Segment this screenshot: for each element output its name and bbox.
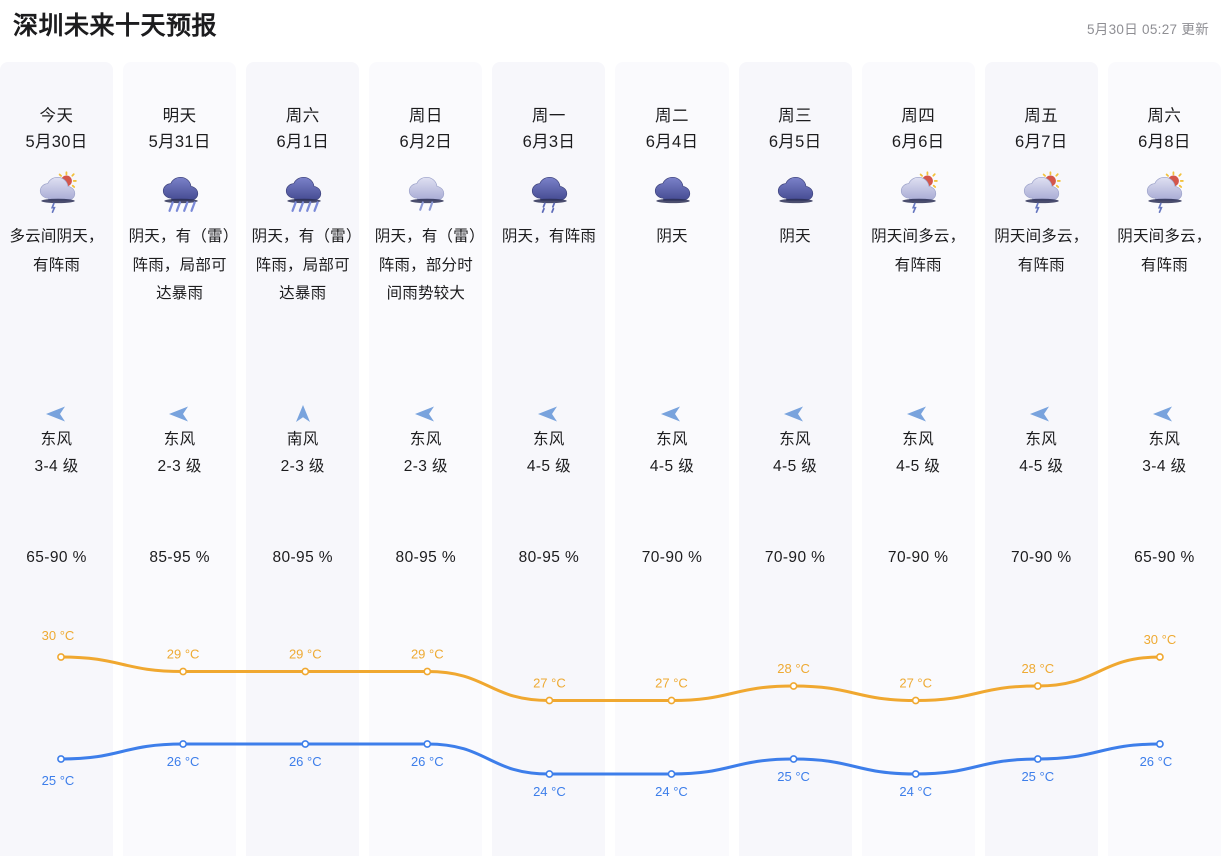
wind-block: 南风2-3 级 <box>246 402 359 480</box>
wind-level: 4-5 级 <box>896 453 940 480</box>
weather-description: 阴天，有阵雨 <box>497 223 601 252</box>
page-header: 深圳未来十天预报 5月30日 05:27 更新 <box>0 0 1221 62</box>
wind-direction: 东风 <box>1025 426 1057 453</box>
weather-description: 阴天间多云，有阵雨 <box>866 223 970 280</box>
forecast-day-column[interactable]: 周日6月2日阴天，有（雷）阵雨，部分时间雨势较大东风2-3 级80-95 % <box>369 62 482 856</box>
day-date: 5月31日 <box>149 130 211 156</box>
wind-level: 3-4 级 <box>34 453 78 480</box>
wind-block: 东风4-5 级 <box>492 402 605 480</box>
day-name: 周五 <box>1024 104 1058 130</box>
forecast-day-column[interactable]: 明天5月31日阴天，有（雷）阵雨，局部可达暴雨东风2-3 级85-95 % <box>123 62 236 856</box>
day-name: 周一 <box>532 104 566 130</box>
dark-cloud-heavy-rain-icon <box>273 171 333 215</box>
weather-description: 阴天，有（雷）阵雨，局部可达暴雨 <box>251 223 355 309</box>
day-name: 周六 <box>1147 104 1181 130</box>
day-name: 周三 <box>778 104 812 130</box>
wind-arrow-east-icon <box>657 402 687 426</box>
humidity-range: 65-90 % <box>1108 549 1221 567</box>
wind-level: 3-4 级 <box>1142 453 1186 480</box>
wind-arrow-east-icon <box>165 402 195 426</box>
day-date: 5月30日 <box>26 130 88 156</box>
day-date: 6月3日 <box>523 130 576 156</box>
wind-level: 2-3 级 <box>158 453 202 480</box>
weather-description: 多云间阴天，有阵雨 <box>5 223 109 280</box>
day-date: 6月8日 <box>1138 130 1191 156</box>
dark-cloud-heavy-rain-icon <box>150 171 210 215</box>
day-name: 今天 <box>40 104 74 130</box>
update-timestamp: 5月30日 05:27 更新 <box>1087 18 1209 38</box>
humidity-range: 70-90 % <box>739 549 852 567</box>
wind-level: 4-5 级 <box>527 453 571 480</box>
weather-description: 阴天间多云，有阵雨 <box>989 223 1093 280</box>
day-name: 周四 <box>901 104 935 130</box>
wind-arrow-east-icon <box>903 402 933 426</box>
wind-direction: 东风 <box>41 426 73 453</box>
wind-level: 2-3 级 <box>281 453 325 480</box>
wind-arrow-east-glyph <box>905 404 931 424</box>
weather-description: 阴天，有（雷）阵雨，局部可达暴雨 <box>128 223 232 309</box>
weather-description: 阴天 <box>620 223 724 252</box>
wind-direction: 东风 <box>902 426 934 453</box>
humidity-range: 65-90 % <box>0 549 113 567</box>
wind-direction: 东风 <box>410 426 442 453</box>
wind-arrow-east-glyph <box>659 404 685 424</box>
wind-level: 2-3 级 <box>404 453 448 480</box>
wind-level: 4-5 级 <box>650 453 694 480</box>
forecast-day-strip: 今天5月30日多云间阴天，有阵雨东风3-4 级65-90 %明天5月31日阴天，… <box>0 62 1221 856</box>
sun-cloud-rain-icon <box>1011 171 1071 215</box>
wind-direction: 东风 <box>164 426 196 453</box>
day-name: 明天 <box>163 104 197 130</box>
day-name: 周二 <box>655 104 689 130</box>
sun-cloud-rain-icon <box>888 171 948 215</box>
wind-arrow-east-icon <box>534 402 564 426</box>
wind-arrow-east-glyph <box>782 404 808 424</box>
wind-arrow-east-icon <box>411 402 441 426</box>
wind-direction: 东风 <box>779 426 811 453</box>
wind-level: 4-5 级 <box>773 453 817 480</box>
forecast-day-column[interactable]: 周四6月6日阴天间多云，有阵雨东风4-5 级70-90 % <box>862 62 975 856</box>
wind-block: 东风3-4 级 <box>1108 402 1221 480</box>
forecast-day-column[interactable]: 周二6月4日阴天东风4-5 级70-90 % <box>615 62 728 856</box>
wind-direction: 东风 <box>533 426 565 453</box>
cloud-rain-icon <box>396 171 456 215</box>
day-name: 周六 <box>286 104 320 130</box>
overcast-cloud-icon <box>642 171 702 215</box>
page-title: 深圳未来十天预报 <box>13 6 217 42</box>
forecast-day-column[interactable]: 周五6月7日阴天间多云，有阵雨东风4-5 级70-90 % <box>985 62 1098 856</box>
humidity-range: 70-90 % <box>985 549 1098 567</box>
wind-arrow-east-icon <box>1149 402 1179 426</box>
day-date: 6月2日 <box>400 130 453 156</box>
day-date: 6月4日 <box>646 130 699 156</box>
day-date: 6月1日 <box>276 130 329 156</box>
forecast-day-column[interactable]: 周六6月8日阴天间多云，有阵雨东风3-4 级65-90 % <box>1108 62 1221 856</box>
forecast-day-column[interactable]: 周六6月1日阴天，有（雷）阵雨，局部可达暴雨南风2-3 级80-95 % <box>246 62 359 856</box>
humidity-range: 85-95 % <box>123 549 236 567</box>
wind-block: 东风3-4 级 <box>0 402 113 480</box>
wind-direction: 南风 <box>287 426 319 453</box>
wind-block: 东风4-5 级 <box>985 402 1098 480</box>
wind-arrow-east-glyph <box>44 404 70 424</box>
wind-level: 4-5 级 <box>1019 453 1063 480</box>
day-date: 6月5日 <box>769 130 822 156</box>
wind-block: 东风4-5 级 <box>615 402 728 480</box>
sun-cloud-rain-icon <box>27 171 87 215</box>
day-date: 6月7日 <box>1015 130 1068 156</box>
weather-description: 阴天间多云，有阵雨 <box>1112 223 1216 280</box>
wind-arrow-south-icon <box>288 402 318 426</box>
dark-cloud-light-rain-icon <box>519 171 579 215</box>
wind-block: 东风4-5 级 <box>739 402 852 480</box>
weather-description: 阴天，有（雷）阵雨，部分时间雨势较大 <box>374 223 478 309</box>
wind-direction: 东风 <box>656 426 688 453</box>
wind-arrow-east-glyph <box>1028 404 1054 424</box>
wind-block: 东风2-3 级 <box>123 402 236 480</box>
wind-block: 东风2-3 级 <box>369 402 482 480</box>
day-date: 6月6日 <box>892 130 945 156</box>
wind-arrow-south-glyph <box>292 403 314 425</box>
wind-arrow-east-glyph <box>536 404 562 424</box>
day-name: 周日 <box>409 104 443 130</box>
wind-block: 东风4-5 级 <box>862 402 975 480</box>
wind-arrow-east-icon <box>780 402 810 426</box>
humidity-range: 70-90 % <box>615 549 728 567</box>
forecast-day-column[interactable]: 今天5月30日多云间阴天，有阵雨东风3-4 级65-90 % <box>0 62 113 856</box>
wind-arrow-east-icon <box>1026 402 1056 426</box>
wind-arrow-east-icon <box>42 402 72 426</box>
humidity-range: 80-95 % <box>492 549 605 567</box>
forecast-day-column[interactable]: 周三6月5日阴天东风4-5 级70-90 % <box>739 62 852 856</box>
humidity-range: 70-90 % <box>862 549 975 567</box>
humidity-range: 80-95 % <box>369 549 482 567</box>
wind-direction: 东风 <box>1148 426 1180 453</box>
forecast-day-column[interactable]: 周一6月3日阴天，有阵雨东风4-5 级80-95 % <box>492 62 605 856</box>
overcast-cloud-icon <box>765 171 825 215</box>
wind-arrow-east-glyph <box>1151 404 1177 424</box>
wind-arrow-east-glyph <box>167 404 193 424</box>
wind-arrow-east-glyph <box>413 404 439 424</box>
weather-forecast-page: 深圳未来十天预报 5月30日 05:27 更新 今天5月30日多云间阴天，有阵雨… <box>0 0 1221 856</box>
sun-cloud-rain-icon <box>1134 171 1194 215</box>
weather-description: 阴天 <box>743 223 847 252</box>
humidity-range: 80-95 % <box>246 549 359 567</box>
